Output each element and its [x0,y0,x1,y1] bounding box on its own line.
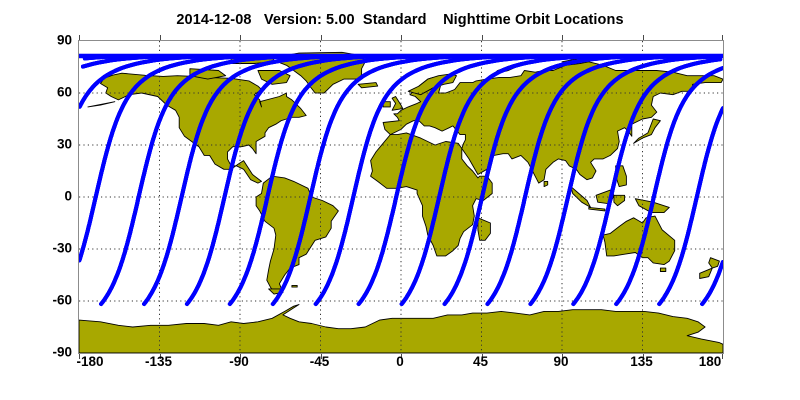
x-tick-label: -135 [145,354,172,369]
landmass-tasmania [660,268,665,271]
x-tick-label: 90 [553,354,568,369]
figure-title: 2014-12-08 Version: 5.00 Standard Nightt… [0,12,800,28]
x-tick-mark [79,35,80,40]
orbit-map-figure: 2014-12-08 Version: 5.00 Standard Nightt… [0,0,800,400]
x-tick-label: -45 [310,354,330,369]
x-tick-label: -90 [229,354,249,369]
y-tick-label: -90 [36,345,72,360]
y-tick-label: 0 [36,189,72,204]
x-tick-mark [160,35,161,40]
x-tick-label: 135 [630,354,653,369]
landmass-falklands [292,285,297,287]
x-tick-mark [401,35,402,40]
polar-convergence-band [79,54,723,59]
world-map-with-orbit-tracks [79,41,723,353]
x-tick-mark [722,354,723,359]
y-tick-label: -30 [36,241,72,256]
x-axis-tick-labels: -180-135-90-4504590135180 [78,354,722,376]
x-tick-label: 0 [396,354,404,369]
y-tick-label: 30 [36,137,72,152]
x-tick-mark [643,35,644,40]
y-tick-label: 90 [36,33,72,48]
x-tick-mark [722,35,723,40]
x-tick-mark [562,35,563,40]
x-tick-label: -180 [76,354,103,369]
x-tick-mark [482,35,483,40]
x-tick-label: 45 [473,354,488,369]
x-tick-label: 180 [699,354,722,369]
y-tick-label: -60 [36,293,72,308]
y-tick-label: 60 [36,85,72,100]
x-tick-mark [240,35,241,40]
y-axis-tick-labels: -90-60-300306090 [30,40,72,352]
x-tick-mark [321,35,322,40]
map-plot-area [78,40,724,354]
